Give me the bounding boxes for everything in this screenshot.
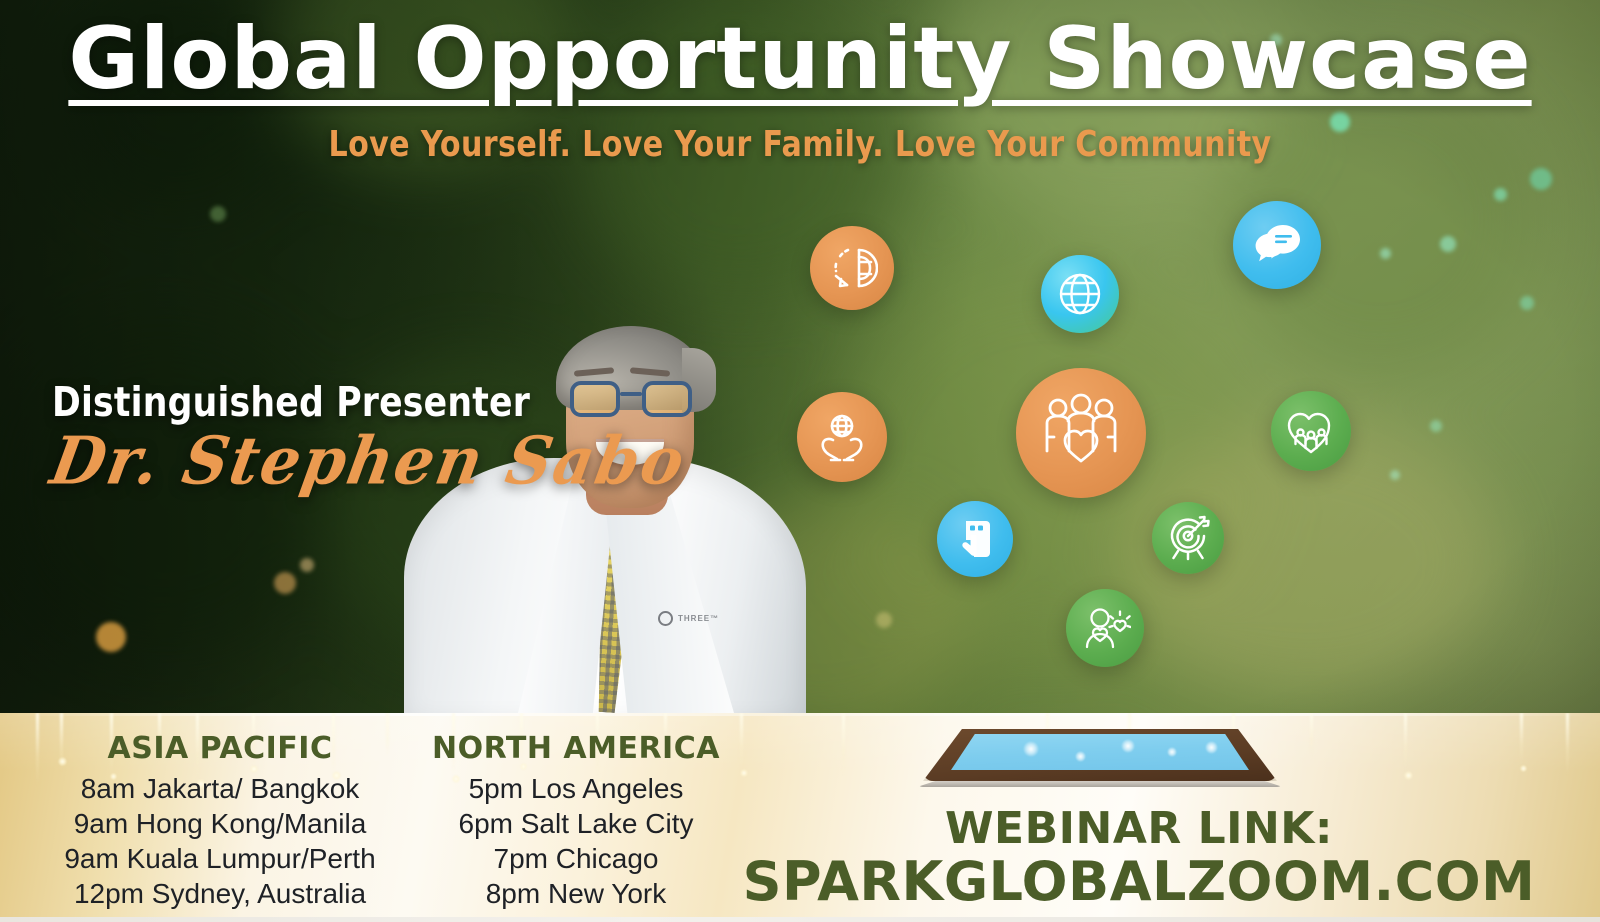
tablet-device-icon (905, 721, 1295, 801)
schedule-time-row: 9am Hong Kong/Manila (20, 807, 420, 842)
presenter-kicker: Distinguished Presenter (52, 378, 647, 426)
target-dart-icon[interactable] (1152, 502, 1224, 574)
webinar-link-url[interactable]: SPARKGLOBALZOOM.COM (700, 853, 1578, 911)
webinar-link-label: WEBINAR LINK: (700, 805, 1578, 853)
presenter-name: Dr. Stephen Sabo (45, 422, 692, 499)
globe-icon[interactable] (1041, 255, 1119, 333)
coat-logo-badge: THREE™ (658, 609, 726, 627)
heart-family-icon[interactable] (1271, 391, 1351, 471)
badge-text: THREE™ (678, 614, 719, 623)
tablet-screen (951, 734, 1249, 770)
page-title: Global Opportunity Showcase (68, 16, 1531, 104)
badge-emblem-icon (658, 611, 673, 626)
page-tagline: Love Yourself. Love Your Family. Love Yo… (56, 124, 1544, 165)
hands-holding-globe-icon[interactable] (797, 392, 887, 482)
header-title-wrap: Global Opportunity Showcase (0, 16, 1600, 104)
webinar-link-block[interactable]: WEBINAR LINK: SPARKGLOBALZOOM.COM (700, 805, 1578, 911)
schedule-time-row: 12pm Sydney, Australia (20, 877, 420, 912)
schedule-time-row: 9am Kuala Lumpur/Perth (20, 842, 420, 877)
schedule-heading: ASIA PACIFIC (20, 731, 420, 766)
schedule-heading: NORTH AMERICA (398, 731, 754, 766)
footer-strip (0, 917, 1600, 922)
schedule-time-row: 8am Jakarta/ Bangkok (20, 772, 420, 807)
globe-growth-arrow-icon[interactable] (810, 226, 894, 310)
bottom-info-bar: ASIA PACIFIC 8am Jakarta/ Bangkok 9am Ho… (0, 713, 1600, 922)
promo-banner: Global Opportunity Showcase Love Yoursel… (0, 0, 1600, 922)
chat-bubbles-icon[interactable] (1233, 201, 1321, 289)
self-care-heart-icon[interactable] (1066, 589, 1144, 667)
schedule-time-row: 5pm Los Angeles (398, 772, 754, 807)
schedule-column-asia-pacific: ASIA PACIFIC 8am Jakarta/ Bangkok 9am Ho… (20, 731, 420, 911)
presenter-block: Distinguished Presenter Dr. Stephen Sabo (52, 378, 685, 497)
mobile-touch-icon[interactable] (937, 501, 1013, 577)
community-heart-people-icon[interactable] (1016, 368, 1146, 498)
